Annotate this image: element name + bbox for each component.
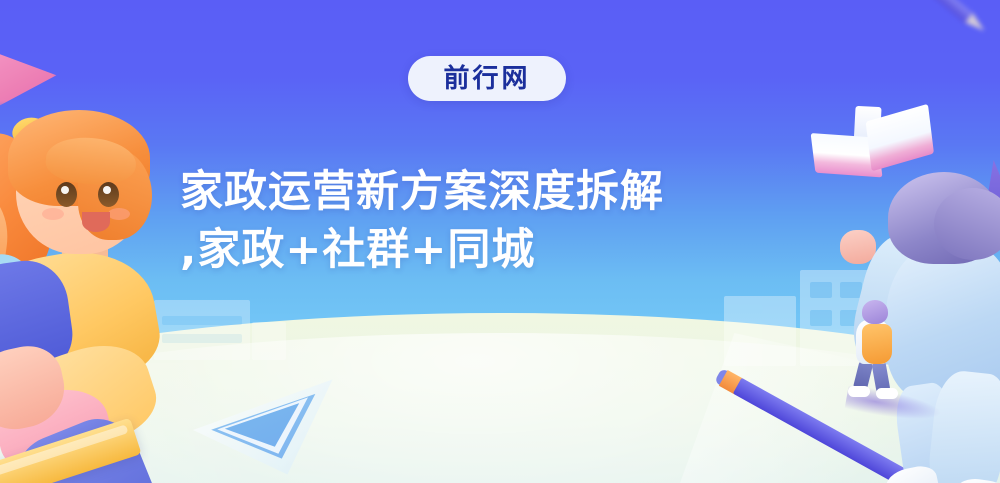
headline-line-2: ,家政+社群+同城 [180, 221, 840, 279]
banner-content: 前行网 家政运营新方案深度拆解 ,家政+社群+同城 [0, 0, 1000, 483]
banner-headline: 家政运营新方案深度拆解 ,家政+社群+同城 [180, 163, 840, 279]
site-brand-label: 前行网 [443, 66, 530, 92]
promo-banner: 前行网 家政运营新方案深度拆解 ,家政+社群+同城 [0, 0, 1000, 483]
headline-line-1: 家政运营新方案深度拆解 [180, 163, 840, 221]
site-brand-badge[interactable]: 前行网 [408, 56, 566, 101]
